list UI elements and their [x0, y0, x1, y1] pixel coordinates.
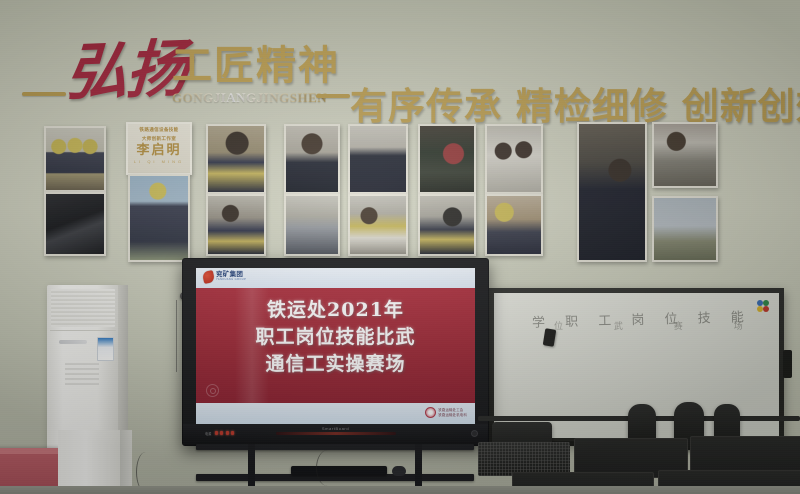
footer-line2: 铁路运输处机电科: [438, 413, 467, 417]
photo-helmet-closeup: [485, 194, 543, 256]
slide-footer-org: 铁路运输处工会 铁路运输处机电科: [425, 407, 467, 418]
plaque-name: 李启明: [128, 143, 190, 159]
ac-seam: [50, 330, 116, 331]
floor: [0, 486, 800, 494]
ac-brand-strip: [59, 340, 87, 344]
slide-title-line2: 职工岗位技能比武: [196, 324, 475, 351]
floor-cable-3: [316, 450, 339, 486]
whiteboard-handwriting-sub: 位 武 赛 场: [554, 319, 767, 332]
desk-mesh-1: [478, 442, 570, 476]
ac-grill: [51, 289, 115, 327]
photo-cabinet-wiring: [652, 122, 718, 188]
slogan-headline-red: 弘扬: [64, 38, 188, 104]
slide-footer: 铁路运输处工会 铁路运输处机电科: [196, 403, 475, 424]
stand-top-rail: [196, 444, 474, 450]
tv-indicator-leds: 电源: [205, 431, 234, 436]
ac-energy-label-icon: [97, 337, 114, 361]
plaque-master-studio: 铁路通信设备技能 大师创新工作室 李启明 LI QI MING: [126, 122, 192, 175]
photo-wall: 铁路通信设备技能 大师创新工作室 李启明 LI QI MING: [0, 112, 800, 260]
slide-title-line1: 铁运处2021年: [196, 297, 475, 324]
slide-title: 铁运处2021年 职工岗位技能比武 通信工实操赛场: [196, 297, 475, 378]
photo-award-plaque: [348, 124, 408, 194]
photo-rack-maintenance: [577, 122, 647, 262]
wall-column-edge: [120, 430, 132, 494]
flame-logo-icon: [202, 270, 215, 284]
training-room-photo: 弘扬 工匠精神 GONGJIANGJINGSHEN 有序传承 精检细修 创新创效…: [0, 0, 800, 494]
tv-led-label: 电源: [205, 431, 211, 436]
magnet-red-icon[interactable]: [763, 306, 769, 312]
tv-ir-strip: [276, 432, 396, 435]
magnet-cluster[interactable]: [757, 300, 770, 313]
keyboard[interactable]: [291, 466, 387, 475]
tv-led-3-icon: [226, 431, 229, 435]
tv-screen[interactable]: 兖矿集团 YANKUANG GROUP 铁运处2021年 职工岗位技能比武 通信…: [196, 268, 475, 424]
plaque-pinyin: LI QI MING: [128, 159, 190, 165]
photo-bottom-left-gear: [44, 192, 106, 256]
tv-led-4-icon: [231, 431, 234, 435]
ac-vent: [65, 363, 99, 385]
company-logo: 兖矿集团 YANKUANG GROUP: [203, 271, 246, 283]
tv-brand-label: SmartBoard: [322, 426, 349, 431]
photo-outdoor-pole: [652, 196, 718, 262]
board-eraser[interactable]: [543, 328, 557, 347]
photo-group-white: [485, 124, 543, 194]
photo-pole-climber: [128, 174, 190, 262]
slide-title-line3: 通信工实操赛场: [196, 351, 475, 378]
presentation-display[interactable]: 兖矿集团 YANKUANG GROUP 铁运处2021年 职工岗位技能比武 通信…: [182, 258, 489, 446]
wall-column: [58, 430, 120, 494]
photo-workers-helmets: [44, 126, 106, 192]
slogan-dash-left: [22, 92, 66, 96]
tv-bezel-bottom: 电源 SmartBoard: [183, 424, 488, 445]
tv-power-button[interactable]: [471, 430, 478, 437]
photo-portrait-suit: [284, 124, 340, 194]
tv-led-2-icon: [220, 431, 223, 435]
plaque-line1: 铁路通信设备技能: [128, 127, 190, 133]
logo-text-en: YANKUANG GROUP: [216, 279, 246, 282]
photo-yellow-shirt: [348, 194, 408, 256]
whiteboard-mount-arm: [783, 350, 792, 378]
mouse[interactable]: [392, 466, 406, 476]
classroom-seating: [478, 398, 800, 494]
photo-red-jacket: [418, 124, 476, 194]
cabinet-top: [0, 448, 60, 454]
tv-led-1-icon: [215, 431, 218, 435]
slogan-dash-right: [316, 94, 350, 98]
photo-classroom: [284, 194, 340, 256]
photo-operators-pair: [206, 194, 266, 256]
plaque-line2: 大师创新工作室: [128, 136, 190, 142]
presentation-slide: 兖矿集团 YANKUANG GROUP 铁运处2021年 职工岗位技能比武 通信…: [196, 268, 475, 424]
wall-slogan: 弘扬 工匠精神 GONGJIANGJINGSHEN 有序传承 精检细修 创新创效: [0, 34, 800, 112]
slogan-headline-gold: 工匠精神: [172, 46, 340, 86]
union-emblem-icon: [206, 384, 219, 397]
slide-body: 铁运处2021年 职工岗位技能比武 通信工实操赛场: [196, 288, 475, 403]
photo-meeting-room: [418, 194, 476, 256]
photo-desk-operator: [206, 124, 266, 194]
slogan-pinyin: GONGJIANGJINGSHEN: [172, 90, 327, 106]
slide-header: 兖矿集团 YANKUANG GROUP: [196, 268, 475, 289]
org-badge-icon: [425, 407, 436, 418]
